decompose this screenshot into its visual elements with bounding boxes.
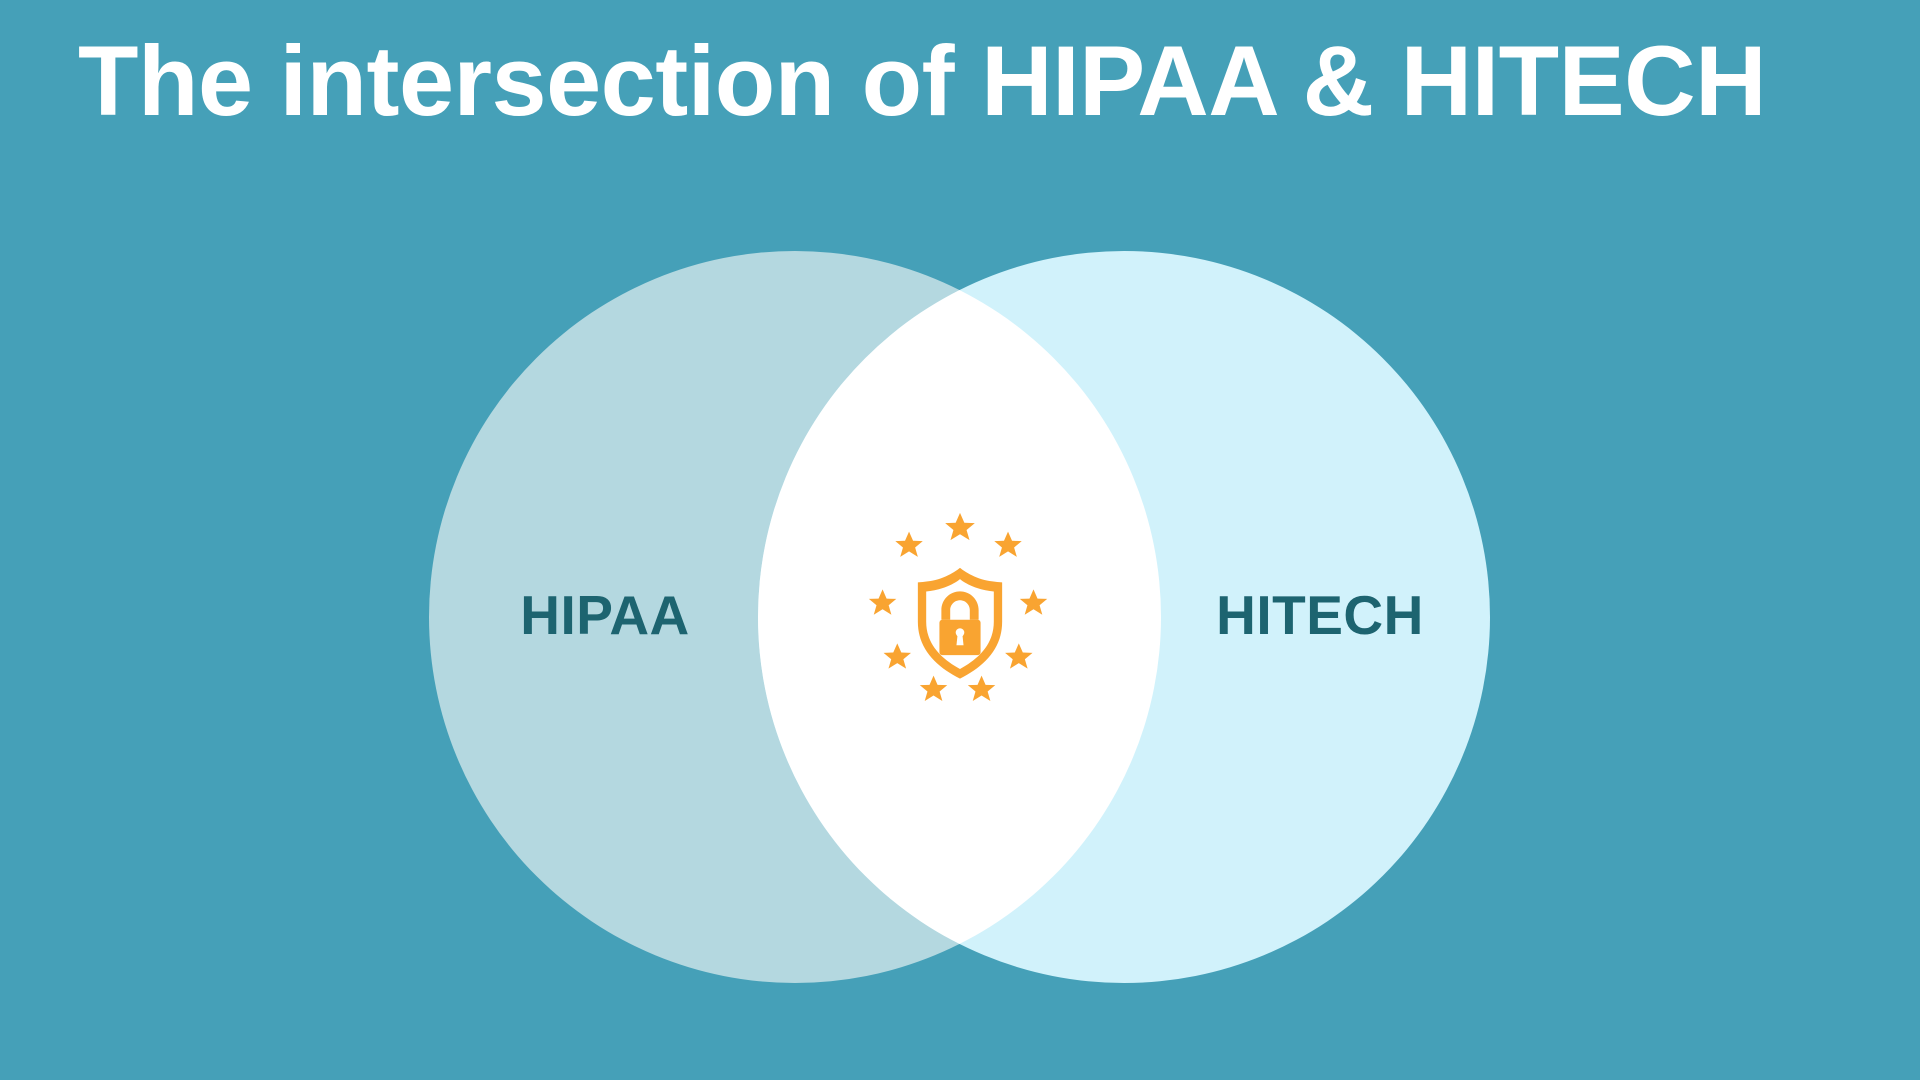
shield-lock-stars-icon (862, 512, 1058, 708)
venn-label-hipaa: HIPAA (420, 585, 790, 645)
slide-canvas: The intersection of HIPAA & HITECH HIPAA… (0, 0, 1920, 1080)
lock-shackle-icon (941, 591, 978, 619)
venn-label-hitech: HITECH (1135, 585, 1505, 645)
